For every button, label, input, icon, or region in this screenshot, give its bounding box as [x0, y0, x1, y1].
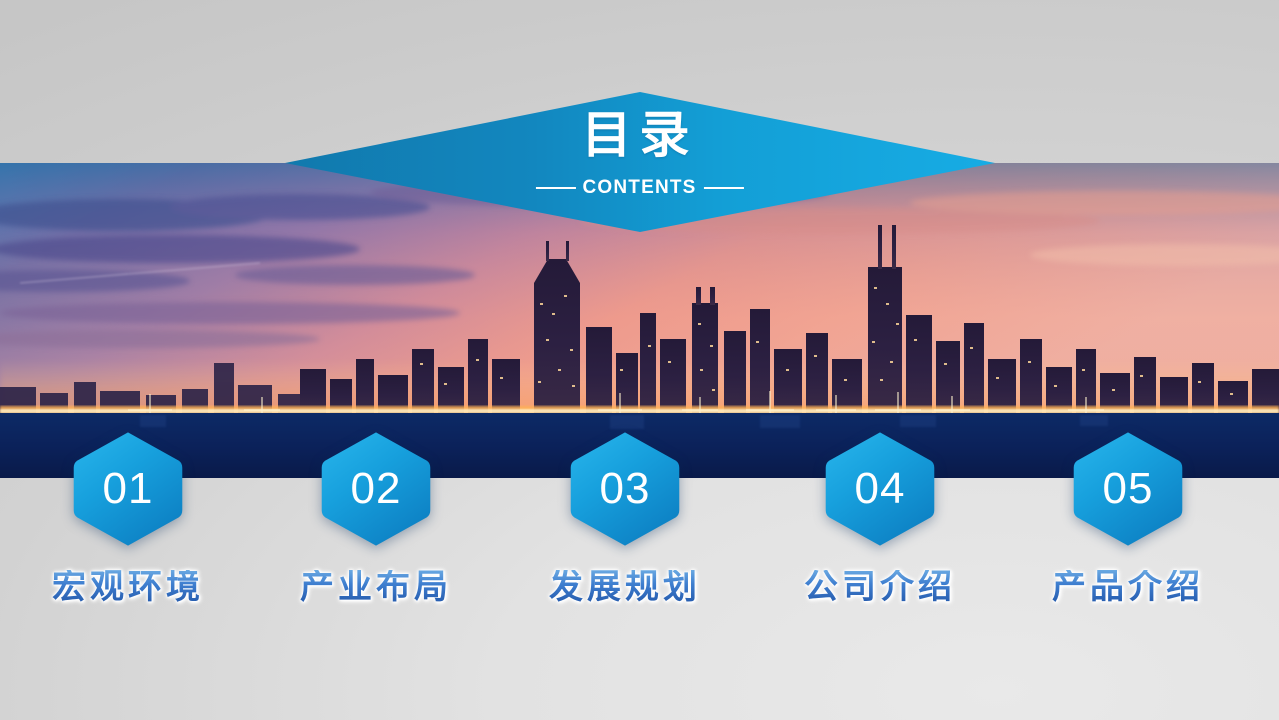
item-number: 01 — [69, 430, 187, 548]
contents-item-02[interactable]: 02 产业布局 — [291, 430, 461, 606]
item-label: 公司介绍 — [795, 570, 965, 606]
contents-slide: 目录 CONTENTS 01 — [0, 0, 1279, 720]
contents-item-05[interactable]: 05 产品介绍 — [1043, 430, 1213, 606]
hexagon-icon: 04 — [821, 430, 939, 548]
page-subtitle: CONTENTS — [582, 178, 696, 197]
contents-item-row: 01 宏观环境 02 产业布局 — [0, 430, 1279, 680]
page-title: 目录 — [582, 110, 698, 160]
item-label: 发展规划 — [540, 570, 710, 606]
item-label: 宏观环境 — [43, 570, 213, 606]
item-number: 05 — [1069, 430, 1187, 548]
rule-left-icon — [535, 187, 575, 189]
item-number: 02 — [317, 430, 435, 548]
item-label: 产品介绍 — [1043, 570, 1213, 606]
item-number: 03 — [566, 430, 684, 548]
item-number: 04 — [821, 430, 939, 548]
contents-item-01[interactable]: 01 宏观环境 — [43, 430, 213, 606]
rule-right-icon — [704, 187, 744, 189]
item-label: 产业布局 — [291, 570, 461, 606]
contents-item-04[interactable]: 04 公司介绍 — [795, 430, 965, 606]
hexagon-icon: 05 — [1069, 430, 1187, 548]
hexagon-icon: 01 — [69, 430, 187, 548]
contents-item-03[interactable]: 03 发展规划 — [540, 430, 710, 606]
hexagon-icon: 02 — [317, 430, 435, 548]
hexagon-icon: 03 — [566, 430, 684, 548]
contents-subtitle-row: CONTENTS — [535, 178, 743, 197]
